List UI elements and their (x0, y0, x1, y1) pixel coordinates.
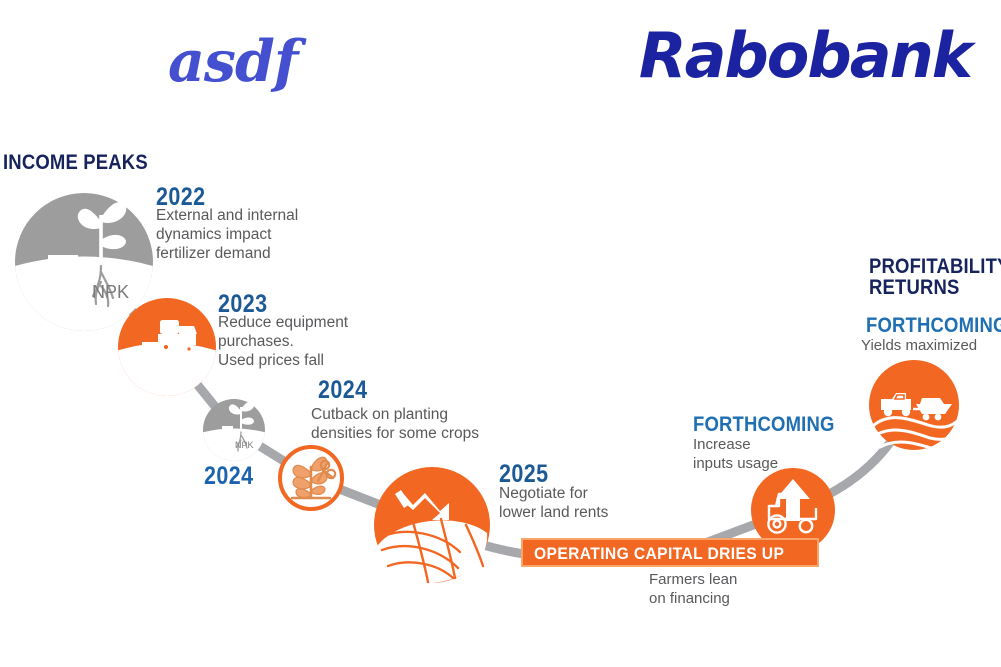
infographic-canvas: asdf Rabobank (0, 0, 1001, 667)
stage-text-2024-planting: Cutback on planting densities for some c… (311, 406, 541, 444)
node-2024-npk-small[interactable]: NPK (200, 399, 268, 465)
year-label-2024-planting: 2024 (318, 378, 368, 403)
stage-text-2022: External and internal dynamics impact fe… (156, 207, 356, 264)
stage-text-2023: Reduce equipment purchases. Used prices … (218, 314, 408, 371)
stage-text-forthcoming-yields: Yields maximized (861, 337, 1001, 356)
timeline-artwork: NPK (0, 0, 1001, 667)
npk-label: NPK (92, 282, 129, 302)
forthcoming-yields-heading: FORTHCOMING (866, 315, 1001, 337)
stage-text-forthcoming-inputs: Increase inputs usage (693, 436, 853, 474)
income-peaks-heading: INCOME PEAKS (3, 152, 148, 173)
operating-capital-banner[interactable]: OPERATING CAPITAL DRIES UP (521, 538, 819, 567)
node-forthcoming-yields[interactable] (869, 360, 959, 450)
node-2025-land-rents[interactable] (374, 467, 490, 583)
banner-caption: Farmers lean on financing (649, 571, 819, 609)
stage-text-2025: Negotiate for lower land rents (499, 485, 689, 523)
profitability-returns-heading: PROFITABILITY RETURNS (869, 256, 1001, 299)
year-label-2024-npk: 2024 (204, 464, 254, 489)
npk-label-small: NPK (235, 440, 254, 450)
year-label-2025: 2025 (499, 462, 549, 487)
operating-capital-banner-label: OPERATING CAPITAL DRIES UP (534, 545, 784, 562)
node-2024-planting[interactable] (280, 447, 342, 509)
forthcoming-inputs-heading: FORTHCOMING (693, 414, 835, 436)
